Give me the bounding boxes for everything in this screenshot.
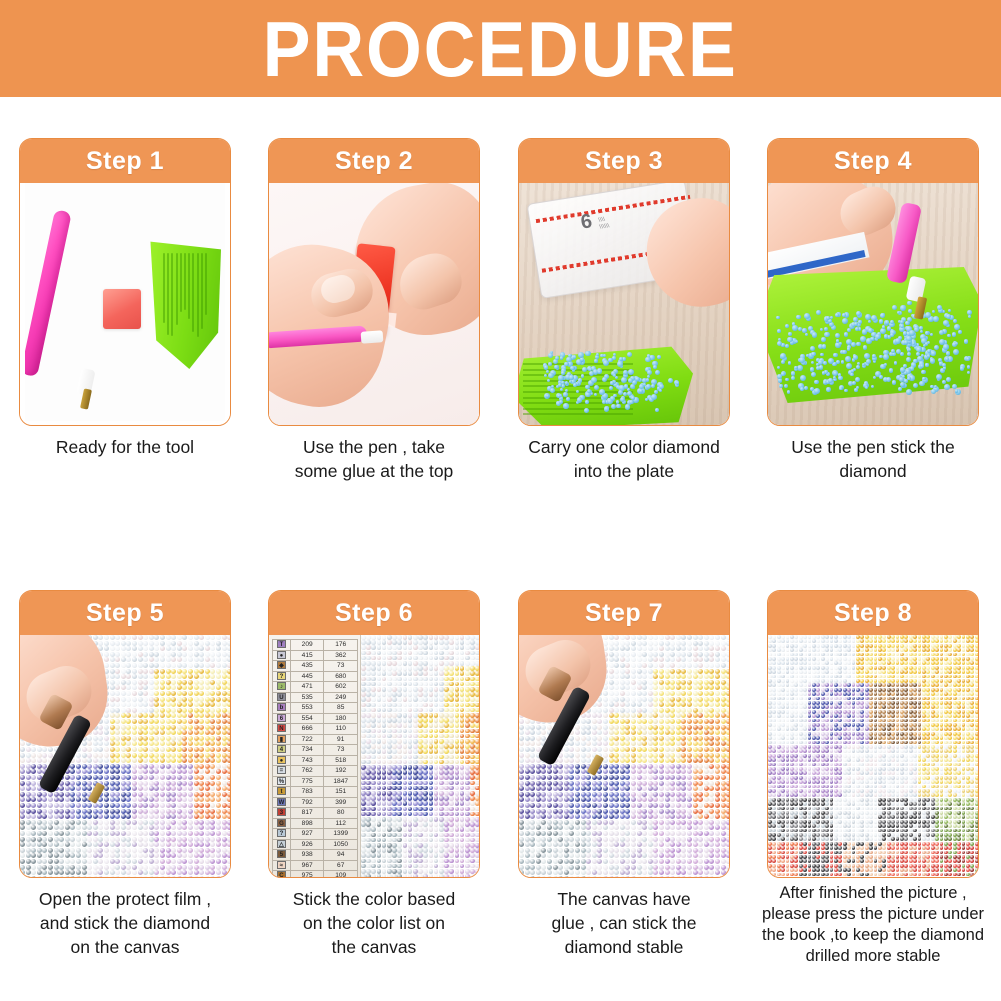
canvas-bead — [444, 838, 449, 843]
canvas-bead — [429, 786, 434, 791]
canvas-bead — [205, 848, 210, 853]
canvas-bead — [70, 859, 75, 864]
canvas-bead — [377, 692, 382, 697]
canvas-bead — [382, 869, 387, 874]
canvas-bead — [687, 725, 692, 730]
canvas-bead — [625, 708, 630, 713]
canvas-bead — [693, 725, 698, 730]
canvas-bead — [665, 646, 670, 651]
canvas-bead — [171, 769, 176, 774]
canvas-bead — [429, 635, 434, 640]
canvas-bead — [160, 663, 165, 668]
canvas-bead — [444, 859, 449, 864]
canvas-bead — [227, 758, 230, 763]
canvas-bead — [687, 697, 692, 702]
canvas-bead — [397, 781, 402, 786]
canvas-bead — [408, 651, 413, 656]
canvas-bead — [216, 814, 221, 819]
canvas-bead — [222, 753, 227, 758]
canvas-bead — [475, 812, 479, 817]
canvas-bead — [413, 666, 418, 671]
canvas-bead — [541, 820, 546, 825]
canvas-bead — [121, 809, 126, 814]
canvas-bead — [449, 671, 454, 676]
canvas-bead — [413, 744, 418, 749]
canvas-bead — [609, 758, 614, 763]
canvas-bead — [182, 876, 187, 877]
canvas-bead — [460, 697, 465, 702]
canvas-bead — [143, 837, 148, 842]
step-card-1[interactable]: Step 1 — [19, 138, 231, 426]
canvas-bead — [625, 730, 630, 735]
canvas-bead — [371, 843, 376, 848]
canvas-bead — [429, 853, 434, 858]
canvas-bead — [681, 697, 686, 702]
canvas-bead — [177, 781, 182, 786]
canvas-bead — [205, 781, 210, 786]
canvas-bead — [625, 702, 630, 707]
canvas-bead — [104, 769, 109, 774]
canvas-bead — [205, 764, 210, 769]
canvas-bead — [154, 786, 159, 791]
canvas-bead — [726, 669, 729, 674]
canvas-bead — [715, 641, 720, 646]
step-card-3[interactable]: Step 3 6 \\\\\\\\\\ — [518, 138, 730, 426]
canvas-bead — [171, 848, 176, 853]
canvas-bead — [227, 831, 230, 836]
canvas-bead — [222, 809, 227, 814]
canvas-bead — [366, 755, 371, 760]
canvas-bead — [609, 652, 614, 657]
canvas-bead — [444, 817, 449, 822]
canvas-bead — [93, 831, 98, 836]
canvas-bead — [460, 838, 465, 843]
canvas-bead — [160, 674, 165, 679]
step-card-7[interactable]: Step 7 — [518, 590, 730, 878]
canvas-bead — [704, 719, 709, 724]
canvas-bead — [408, 692, 413, 697]
color-code-cell: 762 — [290, 766, 324, 777]
canvas-bead — [87, 820, 92, 825]
canvas-bead — [439, 827, 444, 832]
step-caption-3: Carry one color diamond into the plate — [503, 435, 745, 483]
canvas-bead — [210, 719, 215, 724]
diamond-bead — [828, 358, 834, 364]
canvas-bead — [693, 697, 698, 702]
canvas-bead — [429, 791, 434, 796]
canvas-bead — [121, 837, 126, 842]
canvas-bead — [631, 747, 636, 752]
canvas-bead — [704, 809, 709, 814]
canvas-bead — [614, 691, 619, 696]
canvas-bead — [182, 842, 187, 847]
canvas-bead — [659, 680, 664, 685]
canvas-bead — [665, 747, 670, 752]
canvas-bead — [126, 669, 131, 674]
canvas-bead — [361, 781, 366, 786]
canvas-bead — [434, 651, 439, 656]
canvas-bead — [614, 730, 619, 735]
canvas-bead — [631, 719, 636, 724]
color-list-row: △9261050 — [273, 839, 358, 850]
diamond-bead — [955, 389, 958, 392]
canvas-bead — [143, 674, 148, 679]
canvas-bead — [387, 677, 392, 682]
canvas-bead — [525, 753, 530, 758]
canvas-bead — [625, 809, 630, 814]
canvas-bead — [371, 697, 376, 702]
canvas-bead — [465, 859, 470, 864]
canvas-bead — [423, 718, 428, 723]
canvas-bead — [423, 739, 428, 744]
canvas-bead — [227, 775, 230, 780]
canvas-bead — [408, 864, 413, 869]
canvas-bead — [121, 702, 126, 707]
canvas-bead — [182, 848, 187, 853]
canvas-bead — [569, 747, 574, 752]
canvas-bead — [721, 769, 726, 774]
canvas-bead — [429, 817, 434, 822]
canvas-bead — [194, 652, 199, 657]
canvas-bead — [519, 741, 524, 746]
canvas-bead — [625, 769, 630, 774]
canvas-bead — [620, 758, 625, 763]
canvas-bead — [149, 803, 154, 808]
canvas-bead — [631, 674, 636, 679]
canvas-bead — [709, 747, 714, 752]
canvas-bead — [726, 803, 729, 808]
canvas-bead — [637, 747, 642, 752]
canvas-bead — [676, 781, 681, 786]
canvas-bead — [475, 848, 479, 853]
canvas-bead — [138, 725, 143, 730]
canvas-bead — [625, 786, 630, 791]
canvas-bead — [115, 753, 120, 758]
canvas-bead — [631, 736, 636, 741]
canvas-bead — [586, 713, 591, 718]
canvas-bead — [154, 820, 159, 825]
canvas-bead — [149, 635, 154, 640]
color-swatch: △ — [277, 840, 286, 848]
canvas-bead — [392, 656, 397, 661]
canvas-bead — [631, 691, 636, 696]
canvas-bead — [166, 736, 171, 741]
step-header-2: Step 2 — [269, 139, 479, 183]
canvas-bead — [121, 842, 126, 847]
canvas-bead — [160, 792, 165, 797]
canvas-bead — [460, 671, 465, 676]
canvas-bead — [408, 833, 413, 838]
diamond-bead — [851, 342, 856, 347]
canvas-bead — [519, 781, 524, 786]
canvas-bead — [366, 708, 371, 713]
step-caption-5: Open the protect film , and stick the di… — [4, 887, 246, 959]
tray-groove — [163, 253, 165, 323]
canvas-bead — [182, 657, 187, 662]
canvas-bead — [620, 747, 625, 752]
canvas-bead — [382, 874, 387, 877]
canvas-bead — [205, 702, 210, 707]
canvas-bead — [188, 865, 193, 870]
canvas-bead — [70, 865, 75, 870]
canvas-bead — [653, 775, 658, 780]
canvas-bead — [387, 697, 392, 702]
canvas-bead — [665, 635, 670, 640]
canvas-bead — [397, 822, 402, 827]
canvas-bead — [160, 702, 165, 707]
canvas-bead — [653, 708, 658, 713]
canvas-bead — [455, 734, 460, 739]
canvas-bead — [614, 652, 619, 657]
canvas-bead — [387, 635, 392, 640]
canvas-bead — [182, 753, 187, 758]
canvas-bead — [439, 775, 444, 780]
canvas-bead — [530, 775, 535, 780]
canvas-bead — [366, 796, 371, 801]
canvas-bead — [620, 652, 625, 657]
canvas-bead — [444, 801, 449, 806]
canvas-bead — [614, 769, 619, 774]
canvas-bead — [586, 775, 591, 780]
canvas-bead — [76, 758, 81, 763]
canvas-bead — [382, 729, 387, 734]
step-card-2[interactable]: Step 2 — [268, 138, 480, 426]
canvas-bead — [434, 718, 439, 723]
canvas-bead — [143, 635, 148, 640]
canvas-bead — [418, 755, 423, 760]
canvas-bead — [154, 646, 159, 651]
canvas-bead — [413, 671, 418, 676]
canvas-bead — [20, 792, 25, 797]
canvas-bead — [460, 645, 465, 650]
canvas-bead — [444, 697, 449, 702]
canvas-bead — [455, 749, 460, 754]
canvas-bead — [726, 646, 729, 651]
canvas-bead — [569, 820, 574, 825]
canvas-bead — [110, 820, 115, 825]
canvas-bead — [227, 814, 230, 819]
canvas-bead — [110, 781, 115, 786]
canvas-bead — [439, 708, 444, 713]
canvas-bead — [637, 691, 642, 696]
canvas-bead — [429, 760, 434, 765]
canvas-bead — [26, 769, 31, 774]
color-list-row: C975109 — [273, 871, 358, 878]
canvas-bead — [387, 796, 392, 801]
canvas-bead — [648, 697, 653, 702]
canvas-bead — [659, 814, 664, 819]
canvas-bead — [138, 708, 143, 713]
canvas-bead — [721, 741, 726, 746]
step-card-6[interactable]: Step 6 T209176●415362◆43573?445680♪47160… — [268, 590, 480, 878]
canvas-bead — [132, 786, 137, 791]
canvas-bead — [603, 792, 608, 797]
step-caption-6: Stick the color based on the color list … — [253, 887, 495, 959]
canvas-bead — [726, 691, 729, 696]
canvas-bead — [413, 822, 418, 827]
canvas-bead — [659, 736, 664, 741]
canvas-bead — [371, 874, 376, 877]
canvas-bead — [429, 833, 434, 838]
canvas-bead — [171, 775, 176, 780]
canvas-bead — [121, 853, 126, 858]
canvas-bead — [205, 825, 210, 830]
canvas-bead — [126, 876, 131, 877]
canvas-bead — [631, 781, 636, 786]
canvas-bead — [177, 842, 182, 847]
canvas-bead — [397, 775, 402, 780]
canvas-bead — [653, 674, 658, 679]
canvas-bead — [382, 843, 387, 848]
canvas-bead — [418, 713, 423, 718]
canvas-bead — [681, 674, 686, 679]
canvas-bead — [709, 663, 714, 668]
color-count-cell: 91 — [324, 734, 358, 745]
step-card-4[interactable]: Step 4 — [767, 138, 979, 426]
canvas-bead — [470, 833, 475, 838]
canvas-bead — [423, 723, 428, 728]
canvas-bead — [470, 775, 475, 780]
canvas-bead — [625, 674, 630, 679]
canvas-bead — [475, 703, 479, 708]
canvas-bead — [659, 775, 664, 780]
canvas-bead — [704, 781, 709, 786]
canvas-bead — [592, 809, 597, 814]
canvas-bead — [377, 708, 382, 713]
canvas-bead — [188, 786, 193, 791]
canvas-bead — [171, 859, 176, 864]
canvas-bead — [361, 807, 366, 812]
canvas-bead — [132, 870, 137, 875]
canvas-bead — [525, 764, 530, 769]
canvas-bead — [177, 764, 182, 769]
canvas-bead — [104, 814, 109, 819]
canvas-bead — [676, 674, 681, 679]
canvas-bead — [698, 708, 703, 713]
canvas-bead — [182, 691, 187, 696]
canvas-bead — [37, 870, 42, 875]
canvas-bead — [648, 736, 653, 741]
canvas-bead — [361, 651, 366, 656]
canvas-bead — [70, 792, 75, 797]
canvas-bead — [614, 736, 619, 741]
diamond-bead — [791, 371, 795, 375]
canvas-bead — [704, 753, 709, 758]
canvas-bead — [642, 697, 647, 702]
canvas-bead — [70, 848, 75, 853]
canvas-bead — [361, 848, 366, 853]
canvas-bead — [653, 809, 658, 814]
canvas-bead — [704, 747, 709, 752]
canvas-bead — [104, 870, 109, 875]
canvas-bead — [126, 753, 131, 758]
canvas-bead — [171, 814, 176, 819]
canvas-bead — [403, 807, 408, 812]
canvas-bead — [449, 864, 454, 869]
canvas-bead — [620, 753, 625, 758]
canvas-bead — [143, 713, 148, 718]
canvas-bead — [687, 792, 692, 797]
color-code-cell: 975 — [290, 871, 324, 878]
canvas-bead — [82, 797, 87, 802]
canvas-bead — [475, 786, 479, 791]
canvas-bead — [408, 682, 413, 687]
canvas-bead — [397, 760, 402, 765]
canvas-bead — [603, 641, 608, 646]
canvas-bead — [470, 859, 475, 864]
canvas-bead — [519, 814, 524, 819]
canvas-bead — [194, 753, 199, 758]
color-code-cell: 927 — [290, 829, 324, 840]
canvas-bead — [603, 708, 608, 713]
canvas-bead — [575, 786, 580, 791]
canvas-bead — [82, 769, 87, 774]
canvas-bead — [143, 646, 148, 651]
canvas-bead — [227, 764, 230, 769]
canvas-bead — [160, 764, 165, 769]
diamond-bead — [879, 319, 883, 323]
canvas-bead — [82, 876, 87, 877]
canvas-bead — [603, 719, 608, 724]
canvas-bead — [188, 775, 193, 780]
step-card-5[interactable]: Step 5 — [19, 590, 231, 878]
canvas-bead — [182, 635, 187, 640]
canvas-bead — [653, 758, 658, 763]
canvas-bead — [465, 645, 470, 650]
canvas-bead — [715, 730, 720, 735]
canvas-bead — [648, 797, 653, 802]
canvas-bead — [115, 853, 120, 858]
canvas-bead — [470, 755, 475, 760]
canvas-bead — [26, 753, 31, 758]
canvas-bead — [530, 730, 535, 735]
canvas-bead — [76, 859, 81, 864]
diamond-bead — [879, 375, 883, 379]
canvas-bead — [361, 708, 366, 713]
step-header-7: Step 7 — [519, 591, 729, 635]
canvas-bead — [475, 864, 479, 869]
canvas-bead — [403, 651, 408, 656]
canvas-bead — [361, 682, 366, 687]
canvas-bead — [392, 671, 397, 676]
canvas-bead — [470, 645, 475, 650]
canvas-bead — [397, 864, 402, 869]
canvas-bead — [154, 730, 159, 735]
canvas-bead — [199, 820, 204, 825]
canvas-bead — [188, 730, 193, 735]
canvas-bead — [188, 719, 193, 724]
canvas-bead — [403, 786, 408, 791]
canvas-bead — [126, 691, 131, 696]
canvas-bead — [177, 736, 182, 741]
canvas-bead — [126, 842, 131, 847]
canvas-bead — [603, 730, 608, 735]
canvas-bead — [371, 677, 376, 682]
canvas-bead — [470, 827, 475, 832]
canvas-bead — [160, 697, 165, 702]
canvas-bead — [371, 859, 376, 864]
canvas-bead — [408, 656, 413, 661]
canvas-bead — [429, 749, 434, 754]
canvas-bead — [553, 814, 558, 819]
canvas-bead — [154, 641, 159, 646]
canvas-bead — [439, 869, 444, 874]
canvas-bead — [216, 781, 221, 786]
canvas-bead — [530, 769, 535, 774]
canvas-bead — [121, 708, 126, 713]
canvas-bead — [149, 820, 154, 825]
color-list-row: ●743518 — [273, 755, 358, 766]
